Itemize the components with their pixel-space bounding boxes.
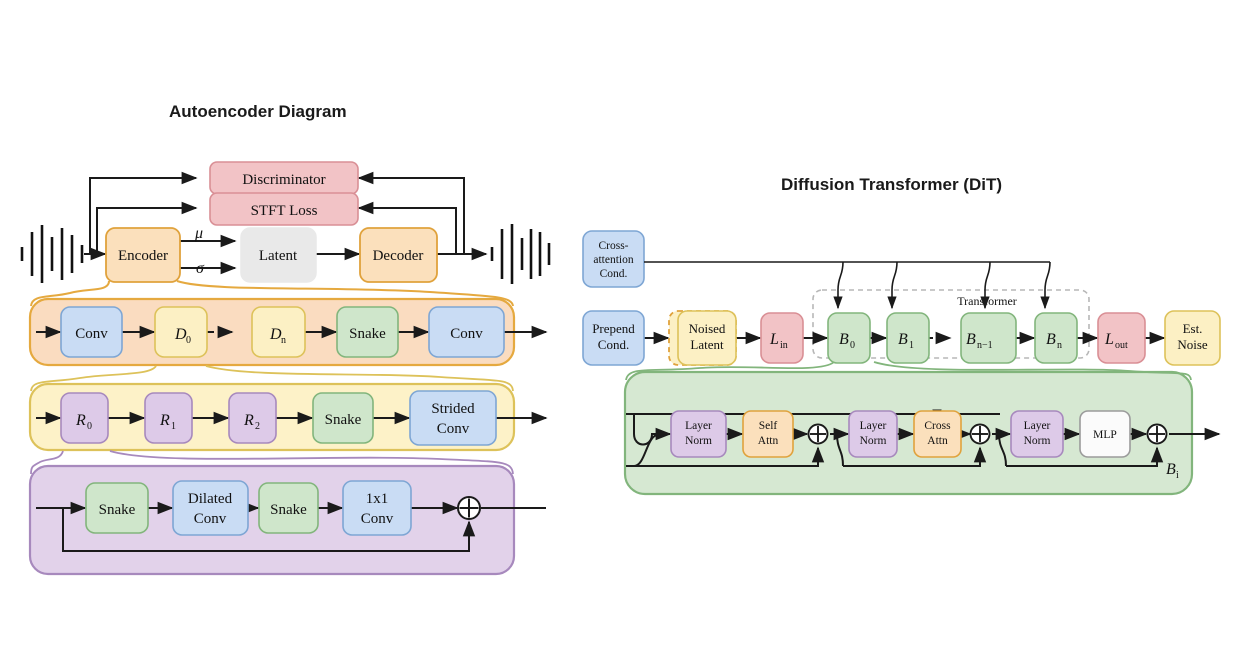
dit-block-item-cross-attn[interactable]: Cross Attn — [914, 411, 961, 457]
noised-latent-line1: Noised — [689, 321, 726, 336]
encoder-row-item-dn[interactable]: D n — [252, 307, 305, 357]
downblock-row-item-snake[interactable]: Snake — [313, 393, 373, 443]
l-out-label: L — [1104, 331, 1114, 348]
dit-block-detail-name: B — [1166, 461, 1176, 478]
latent-label: Latent — [259, 248, 298, 264]
encoder-row-item-sub: 0 — [186, 335, 191, 346]
residual-row-item-label: Snake — [99, 502, 136, 518]
transformer-region-label: Transformer — [957, 294, 1017, 308]
dit-block-sum-node-2-icon — [971, 425, 990, 444]
encoder-row-item-snake[interactable]: Snake — [337, 307, 398, 357]
cross-attention-cond-line2: attention — [593, 254, 633, 266]
l-out-box[interactable]: L out — [1098, 313, 1145, 363]
noised-latent-line2: Latent — [690, 337, 724, 352]
encoder-row-item-label: Conv — [450, 326, 483, 342]
encoder-row-item-sub: n — [281, 335, 286, 346]
downblock-row-item-r0[interactable]: R 0 — [61, 393, 108, 443]
right-title: Diffusion Transformer (DiT) — [781, 175, 1002, 194]
dit-block-item-line1: Cross — [924, 420, 951, 432]
discriminator-label: Discriminator — [242, 172, 325, 188]
l-in-label: L — [769, 331, 779, 348]
dit-block-label: B — [966, 331, 976, 348]
latent-box[interactable]: Latent — [241, 228, 316, 282]
residual-row-item-snake-1[interactable]: Snake — [86, 483, 148, 533]
dit-block-item-layer-norm-2[interactable]: Layer Norm — [849, 411, 897, 457]
dit-block-detail-name-sub: i — [1176, 470, 1179, 481]
l-in-box[interactable]: L in — [761, 313, 803, 363]
dit-block-item-self-attn[interactable]: Self Attn — [743, 411, 793, 457]
downblock-row-item-label: R — [75, 412, 86, 429]
dit-block-item-line1: Layer — [685, 420, 712, 432]
residual-row-item-snake-2[interactable]: Snake — [259, 483, 318, 533]
downblock-row-item-r2[interactable]: R 2 — [229, 393, 276, 443]
stft-loss-box[interactable]: STFT Loss — [210, 193, 358, 225]
input-waveform-icon — [22, 225, 82, 283]
encoder-row-item-conv-2[interactable]: Conv — [429, 307, 504, 357]
dit-block-item-mlp[interactable]: MLP — [1080, 411, 1130, 457]
dit-block-sub: 1 — [909, 340, 914, 351]
dit-block-item-line1: Layer — [860, 420, 887, 432]
prepend-cond-line2: Cond. — [598, 337, 629, 352]
encoder-row-item-label: Snake — [349, 326, 386, 342]
cross-attention-cond-box[interactable]: Cross- attention Cond. — [583, 231, 644, 287]
dit-block-b1[interactable]: B 1 — [887, 313, 929, 363]
residual-row-item-dilated-conv[interactable]: Dilated Conv — [173, 481, 248, 535]
l-in-sub: in — [780, 340, 788, 351]
residual-row-item-label-line2: Conv — [194, 511, 227, 527]
encoder-label: Encoder — [118, 248, 168, 264]
dit-block-item-line1: Layer — [1024, 420, 1051, 432]
prepend-cond-line1: Prepend — [592, 321, 635, 336]
sigma-label: σ — [196, 260, 205, 277]
downblock-row-item-strided-conv[interactable]: Strided Conv — [410, 391, 496, 445]
dit-block-item-line2: Norm — [685, 435, 712, 447]
dit-block-sub: n−1 — [977, 340, 993, 351]
dit-block-label: B — [839, 331, 849, 348]
est-noise-line2: Noise — [1177, 337, 1208, 352]
downblock-row-item-label: R — [243, 412, 254, 429]
downblock-row-item-label: Snake — [325, 412, 362, 428]
left-title: Autoencoder Diagram — [169, 102, 347, 121]
encoder-row-item-label: Conv — [75, 326, 108, 342]
downblock-row-item-label-line2: Conv — [437, 421, 470, 437]
encoder-box[interactable]: Encoder — [106, 228, 180, 282]
dit-block-b0[interactable]: B 0 — [828, 313, 870, 363]
stft-loss-label: STFT Loss — [251, 203, 318, 219]
output-waveform-icon — [492, 224, 549, 284]
cross-attention-cond-line1: Cross- — [598, 240, 628, 252]
residual-row-item-label-line1: 1x1 — [366, 491, 389, 507]
prepend-cond-box[interactable]: Prepend Cond. — [583, 311, 644, 365]
dit-block-item-line1: Self — [759, 420, 778, 432]
noised-latent-group[interactable]: Noised Latent — [669, 311, 736, 365]
dit-block-sum-node-3-icon — [1148, 425, 1167, 444]
dit-block-bn[interactable]: B n — [1035, 313, 1077, 363]
dit-block-bn-1[interactable]: B n−1 — [961, 313, 1016, 363]
dit-block-item-line2: Attn — [758, 435, 779, 447]
residual-row-item-label-line1: Dilated — [188, 491, 233, 507]
dit-block-item-line1: MLP — [1093, 429, 1117, 441]
downblock-row-item-sub: 1 — [171, 421, 176, 432]
est-noise-line1: Est. — [1183, 321, 1203, 336]
dit-block-sub: 0 — [850, 340, 855, 351]
dit-block-sub: n — [1057, 340, 1062, 351]
dit-block-item-line2: Norm — [860, 435, 887, 447]
encoder-row-item-conv-1[interactable]: Conv — [61, 307, 122, 357]
dit-block-label: B — [898, 331, 908, 348]
residual-row-item-1x1-conv[interactable]: 1x1 Conv — [343, 481, 411, 535]
dit-block-sum-node-1-icon — [809, 425, 828, 444]
dit-block-item-line2: Attn — [927, 435, 948, 447]
cross-attention-cond-line3: Cond. — [600, 268, 628, 280]
downblock-row-item-label-line1: Strided — [431, 401, 475, 417]
downblock-row-item-sub: 2 — [255, 421, 260, 432]
dit-block-item-layer-norm-3[interactable]: Layer Norm — [1011, 411, 1063, 457]
diagram-svg: Autoencoder Diagram Diffusion Transforme… — [0, 0, 1250, 672]
dit-block-item-layer-norm-1[interactable]: Layer Norm — [671, 411, 726, 457]
est-noise-box[interactable]: Est. Noise — [1165, 311, 1220, 365]
encoder-row-item-d0[interactable]: D 0 — [155, 307, 207, 357]
discriminator-box[interactable]: Discriminator — [210, 162, 358, 194]
decoder-box[interactable]: Decoder — [360, 228, 437, 282]
downblock-row-item-label: R — [159, 412, 170, 429]
residual-row-item-label-line2: Conv — [361, 511, 394, 527]
downblock-row-item-r1[interactable]: R 1 — [145, 393, 192, 443]
dit-block-item-line2: Norm — [1024, 435, 1051, 447]
downblock-row-item-sub: 0 — [87, 421, 92, 432]
residual-sum-node-icon — [458, 497, 480, 519]
residual-row-item-label: Snake — [270, 502, 307, 518]
l-out-sub: out — [1115, 340, 1128, 351]
figure-canvas: Autoencoder Diagram Diffusion Transforme… — [0, 0, 1250, 672]
mu-label: μ — [194, 225, 203, 242]
decoder-label: Decoder — [373, 248, 424, 264]
dit-block-label: B — [1046, 331, 1056, 348]
